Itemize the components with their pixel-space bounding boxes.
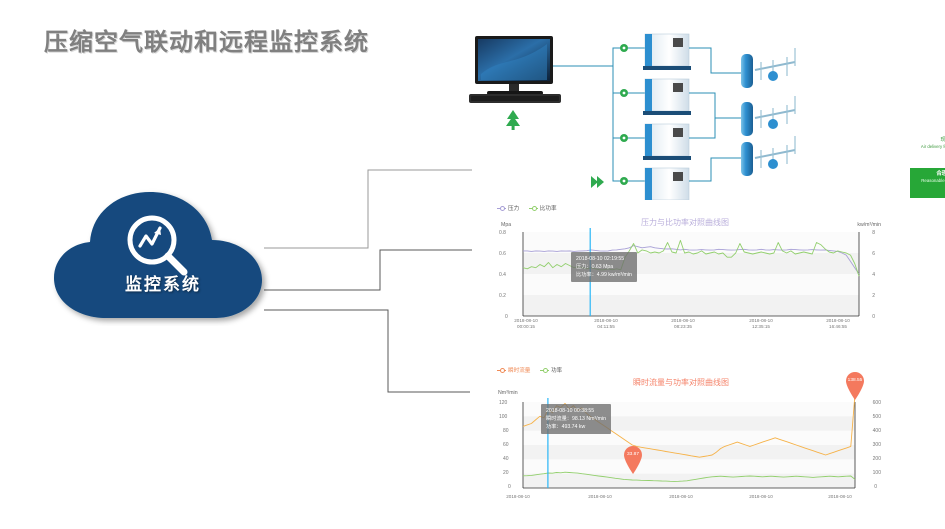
slide-canvas: 压缩空气联动和远程监控系统 监控系统 xyxy=(0,0,945,529)
chart1-xtick: 2018-08-1008:23:35 xyxy=(648,318,718,329)
chart1-xtick: 2018-08-1012:35:15 xyxy=(726,318,796,329)
chart1-tooltip: 2018-08-10 02:19:55 压力：0.63 Mpa 比功率：4.99… xyxy=(571,252,637,282)
node-marker-group xyxy=(620,44,628,185)
chart2-xtick: 2018-08-10 xyxy=(805,494,875,500)
assign-state-callout-en: Reasonable assign the working states of … xyxy=(910,178,945,188)
site-feedback-label-en: Air delivery feedback of main control ce… xyxy=(905,145,945,150)
system-diagram: 现场用气量反馈主控中心 Air delivery feedback of mai… xyxy=(443,18,945,208)
compressor-unit xyxy=(643,124,691,160)
chart2-marker-low[interactable]: 33.87 xyxy=(623,446,643,474)
monitoring-cloud[interactable]: 监控系统 xyxy=(34,186,292,326)
desktop-monitor-icon xyxy=(469,36,561,103)
air-tank-and-piping xyxy=(741,96,795,136)
chart1-xtick: 2018-08-1016:46:55 xyxy=(803,318,873,329)
chart2-tooltip-flow: 瞬时流量：98.13 Nm³/min xyxy=(546,415,606,423)
right-arrow-icon xyxy=(591,176,604,188)
chart1-tooltip-pressure: 压力：0.63 Mpa xyxy=(576,263,632,271)
chart2-tooltip: 2018-08-10 00:38:55 瞬时流量：98.13 Nm³/min 功… xyxy=(541,404,611,434)
cloud-label: 监控系统 xyxy=(34,270,292,295)
chart1-xtick: 2018-08-1000:00:15 xyxy=(491,318,561,329)
site-feedback-label: 现场用气量反馈主控中心 Air delivery feedback of mai… xyxy=(905,138,945,150)
cloud-shape xyxy=(54,192,262,318)
chart2-xtick: 2018-08-10 xyxy=(646,494,716,500)
chart2-xtick: 2018-08-10 xyxy=(726,494,796,500)
compressor-unit xyxy=(643,34,691,70)
chart1-tooltip-power: 比功率：4.99 kw/m³/min xyxy=(576,271,632,279)
page-title: 压缩空气联动和远程监控系统 xyxy=(44,22,369,57)
chart2-marker-low-value: 33.87 xyxy=(623,452,643,457)
pressure-chart-panel[interactable]: 压力 比功率 压力与比功率对照曲线图 Mpa kw/m³/min 0.8 0.6… xyxy=(483,200,883,335)
chart2-marker-peak-value: 138.55 xyxy=(845,378,865,383)
chart2-xtick: 2018-08-10 xyxy=(565,494,635,500)
air-tank-and-piping xyxy=(741,48,795,88)
chart2-tooltip-time: 2018-08-10 00:38:55 xyxy=(546,407,606,415)
chart1-tooltip-time: 2018-08-10 02:19:55 xyxy=(576,255,632,263)
flow-chart-panel[interactable]: 瞬时流量 功率 瞬时流量与功率对照曲线图 Nm³/min 120 100 80 … xyxy=(483,362,883,522)
air-tank-and-piping xyxy=(741,136,795,176)
compressor-unit xyxy=(643,79,691,115)
chart1-plot[interactable] xyxy=(483,200,883,335)
assign-state-callout-cn: 合理分配各空压工作状态 xyxy=(910,171,945,177)
compressor-unit xyxy=(643,168,691,204)
tree-icon xyxy=(506,110,520,130)
chart2-xtick: 2018-08-10 xyxy=(483,494,553,500)
chart1-xtick: 2018-08-1004:11:55 xyxy=(571,318,641,329)
chart2-marker-peak[interactable]: 138.55 xyxy=(845,372,865,400)
assign-state-callout: 合理分配各空压工作状态 Reasonable assign the workin… xyxy=(910,168,945,198)
chart2-tooltip-power: 功率：493.74 kw xyxy=(546,423,606,431)
